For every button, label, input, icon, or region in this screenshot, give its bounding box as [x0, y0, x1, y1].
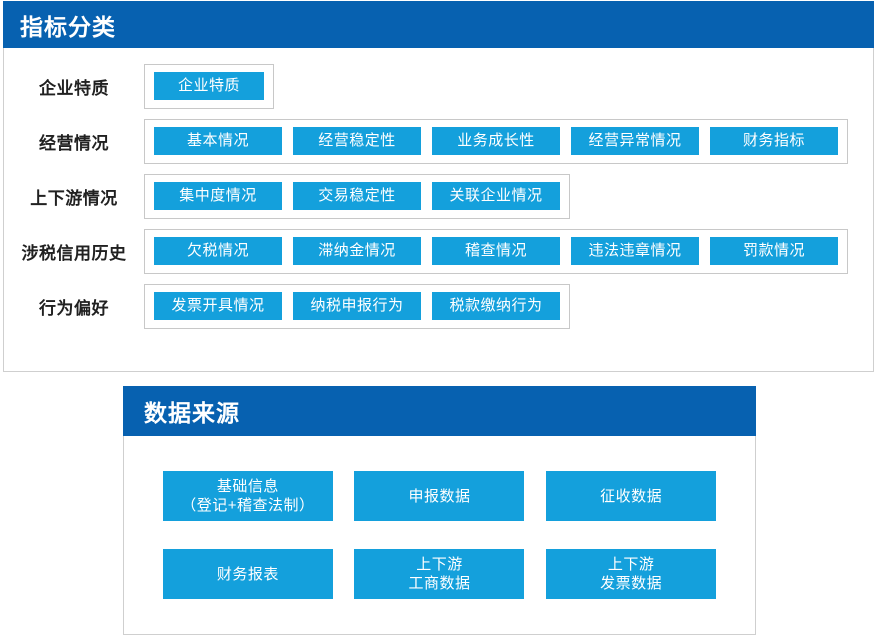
row-label: 涉税信用历史: [4, 239, 144, 264]
indicator-chip[interactable]: 关联企业情况: [432, 182, 560, 210]
indicator-chip[interactable]: 财务指标: [710, 127, 838, 155]
source-card-line2: 工商数据: [408, 574, 470, 593]
source-card-line1: 申报数据: [408, 487, 470, 506]
chip-group: 企业特质: [144, 64, 274, 109]
source-card-line1: 征收数据: [600, 487, 662, 506]
source-card-line1: 财务报表: [217, 565, 279, 584]
indicator-row: 经营情况 基本情况 经营稳定性 业务成长性 经营异常情况 财务指标: [4, 115, 873, 167]
data-source-panel: 数据来源 基础信息 （登记+稽查法制） 申报数据 征收数据 财务报表 上下游 工…: [123, 386, 756, 635]
source-card[interactable]: 基础信息 （登记+稽查法制）: [163, 471, 333, 521]
chip-group: 集中度情况 交易稳定性 关联企业情况: [144, 174, 570, 219]
indicator-row: 行为偏好 发票开具情况 纳税申报行为 税款缴纳行为: [4, 280, 873, 332]
chip-group: 基本情况 经营稳定性 业务成长性 经营异常情况 财务指标: [144, 119, 848, 164]
indicator-rows: 企业特质 企业特质 经营情况 基本情况 经营稳定性 业务成长性 经营异常情况 财…: [4, 48, 873, 332]
indicator-chip[interactable]: 欠税情况: [154, 237, 282, 265]
source-card[interactable]: 申报数据: [354, 471, 524, 521]
source-card-line1: 上下游: [416, 555, 463, 574]
indicator-panel-header: 指标分类: [3, 1, 874, 48]
row-label: 经营情况: [4, 129, 144, 154]
row-label: 上下游情况: [4, 184, 144, 209]
indicator-chip[interactable]: 发票开具情况: [154, 292, 282, 320]
indicator-classification-panel: 指标分类 企业特质 企业特质 经营情况 基本情况 经营稳定性 业务成长性 经营异…: [3, 2, 874, 372]
indicator-chip[interactable]: 经营异常情况: [571, 127, 699, 155]
source-card-line2: 发票数据: [600, 574, 662, 593]
indicator-chip[interactable]: 滞纳金情况: [293, 237, 421, 265]
indicator-chip[interactable]: 纳税申报行为: [293, 292, 421, 320]
indicator-chip[interactable]: 稽查情况: [432, 237, 560, 265]
source-card-grid: 基础信息 （登记+稽查法制） 申报数据 征收数据 财务报表 上下游 工商数据 上…: [124, 436, 755, 599]
indicator-chip[interactable]: 违法违章情况: [571, 237, 699, 265]
source-panel-header: 数据来源: [123, 386, 756, 436]
source-card[interactable]: 上下游 工商数据: [354, 549, 524, 599]
row-label: 企业特质: [4, 74, 144, 99]
source-card[interactable]: 征收数据: [546, 471, 716, 521]
indicator-chip[interactable]: 罚款情况: [710, 237, 838, 265]
indicator-row: 上下游情况 集中度情况 交易稳定性 关联企业情况: [4, 170, 873, 222]
indicator-chip[interactable]: 经营稳定性: [293, 127, 421, 155]
indicator-chip[interactable]: 集中度情况: [154, 182, 282, 210]
indicator-panel-title: 指标分类: [20, 8, 116, 42]
indicator-row: 涉税信用历史 欠税情况 滞纳金情况 稽查情况 违法违章情况 罚款情况: [4, 225, 873, 277]
source-card-line1: 基础信息: [217, 477, 279, 496]
indicator-chip[interactable]: 业务成长性: [432, 127, 560, 155]
source-card[interactable]: 财务报表: [163, 549, 333, 599]
chip-group: 欠税情况 滞纳金情况 稽查情况 违法违章情况 罚款情况: [144, 229, 848, 274]
indicator-chip[interactable]: 税款缴纳行为: [432, 292, 560, 320]
indicator-row: 企业特质 企业特质: [4, 60, 873, 112]
indicator-chip[interactable]: 基本情况: [154, 127, 282, 155]
source-card-line1: 上下游: [608, 555, 655, 574]
row-label: 行为偏好: [4, 294, 144, 319]
source-card-line2: （登记+稽查法制）: [181, 496, 314, 515]
indicator-chip[interactable]: 企业特质: [154, 72, 264, 100]
chip-group: 发票开具情况 纳税申报行为 税款缴纳行为: [144, 284, 570, 329]
source-panel-title: 数据来源: [144, 394, 240, 428]
source-card[interactable]: 上下游 发票数据: [546, 549, 716, 599]
indicator-chip[interactable]: 交易稳定性: [293, 182, 421, 210]
